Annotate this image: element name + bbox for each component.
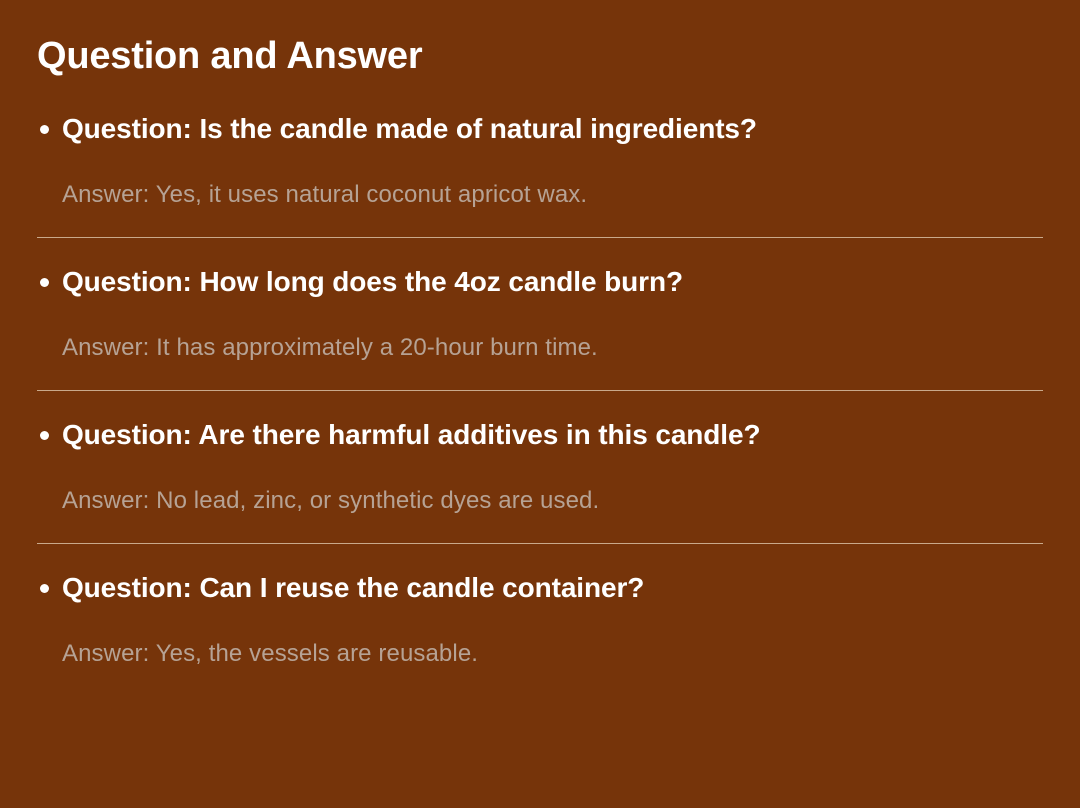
faq-item[interactable]: Question: How long does the 4oz candle b… bbox=[37, 237, 1043, 363]
faq-question-text: Question: Can I reuse the candle contain… bbox=[62, 570, 1043, 606]
faq-question-row[interactable]: Question: Can I reuse the candle contain… bbox=[37, 570, 1043, 606]
faq-page: Question and Answer Question: Is the can… bbox=[0, 0, 1080, 808]
faq-answer-text: Answer: Yes, the vessels are reusable. bbox=[37, 639, 1043, 669]
faq-question-row[interactable]: Question: Are there harmful additives in… bbox=[37, 417, 1043, 453]
faq-answer-text: Answer: No lead, zinc, or synthetic dyes… bbox=[37, 486, 1043, 516]
faq-item[interactable]: Question: Is the candle made of natural … bbox=[37, 111, 1043, 210]
bullet-dot-icon bbox=[40, 278, 49, 287]
faq-list: Question: Is the candle made of natural … bbox=[37, 111, 1043, 669]
faq-answer-text: Answer: Yes, it uses natural coconut apr… bbox=[37, 180, 1043, 210]
faq-item[interactable]: Question: Can I reuse the candle contain… bbox=[37, 543, 1043, 669]
faq-answer-text: Answer: It has approximately a 20-hour b… bbox=[37, 333, 1043, 363]
faq-question-text: Question: How long does the 4oz candle b… bbox=[62, 264, 1043, 300]
faq-question-row[interactable]: Question: How long does the 4oz candle b… bbox=[37, 264, 1043, 300]
bullet-dot-icon bbox=[40, 431, 49, 440]
faq-question-text: Question: Are there harmful additives in… bbox=[62, 417, 1043, 453]
faq-question-text: Question: Is the candle made of natural … bbox=[62, 111, 1043, 147]
page-title: Question and Answer bbox=[37, 0, 1043, 79]
bullet-dot-icon bbox=[40, 125, 49, 134]
faq-question-row[interactable]: Question: Is the candle made of natural … bbox=[37, 111, 1043, 147]
bullet-dot-icon bbox=[40, 584, 49, 593]
faq-item[interactable]: Question: Are there harmful additives in… bbox=[37, 390, 1043, 516]
